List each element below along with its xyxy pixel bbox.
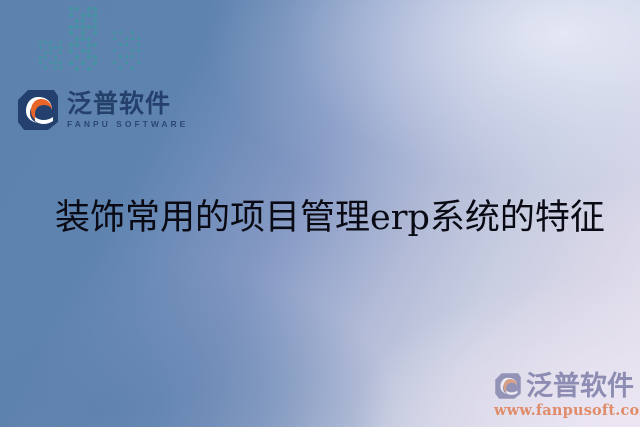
- watermark: 泛普软件 www.fanpusoft.com: [494, 371, 634, 419]
- brand-logo: 泛普软件 FANPU SOFTWARE: [16, 88, 188, 132]
- watermark-brand-row: 泛普软件: [494, 371, 634, 401]
- watermark-brand-name: 泛普软件: [526, 373, 634, 400]
- brand-name-cn: 泛普软件: [67, 91, 188, 116]
- pixel-blocks-skyline-icon: [38, 0, 158, 72]
- pixel-skyline-decoration: [38, 0, 158, 72]
- fanpu-watermark-logo-icon: [494, 371, 522, 401]
- brand-logo-text: 泛普软件 FANPU SOFTWARE: [67, 91, 188, 129]
- page-title: 装饰常用的项目管理erp系统的特征: [55, 197, 605, 241]
- watermark-url: www.fanpusoft.com: [494, 402, 634, 419]
- fanpu-logo-icon: [16, 88, 60, 132]
- brand-name-en: FANPU SOFTWARE: [67, 120, 188, 129]
- promo-banner: 泛普软件 FANPU SOFTWARE 装饰常用的项目管理erp系统的特征 泛普…: [0, 0, 640, 427]
